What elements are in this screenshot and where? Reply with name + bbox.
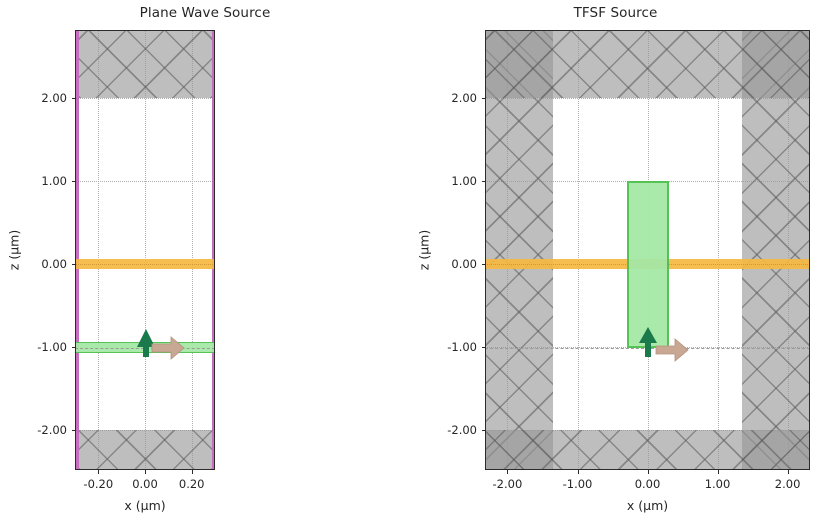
panel-title-plane-wave: Plane Wave Source [0, 5, 410, 21]
ytick-label-3: -1.00 [20, 340, 67, 354]
pml-region-bottom [485, 430, 810, 470]
panel-tfsf-source: TFSF Source [410, 0, 821, 520]
xtick-mark-0 [507, 470, 508, 474]
xtick-mark-0 [98, 470, 99, 474]
pml-region-top [485, 30, 810, 98]
xtick-label-0: -0.20 [83, 477, 113, 491]
ytick-label-2: 0.00 [20, 257, 67, 271]
gridline-z-1.00 [75, 181, 215, 182]
xtick-label-4: 2.00 [775, 477, 801, 491]
ytick-label-2: 0.00 [430, 257, 477, 271]
ytick-label-4: -2.00 [20, 423, 67, 437]
ytick-mark-4 [482, 430, 486, 431]
propagation-arrow [151, 336, 185, 360]
xtick-label-2: 0.00 [635, 477, 661, 491]
ytick-mark-2 [72, 264, 76, 265]
pml-region-top [79, 30, 212, 98]
tfsf-source-box [627, 181, 669, 348]
panel-title-tfsf: TFSF Source [410, 5, 821, 21]
xtick-mark-3 [718, 470, 719, 474]
periodic-boundary-left [75, 30, 79, 470]
xtick-mark-4 [788, 470, 789, 474]
xtick-label-2: 0.20 [179, 477, 205, 491]
axes-plane-wave [75, 30, 215, 470]
figure-canvas: Plane Wave Source [0, 0, 821, 520]
periodic-boundary-right [212, 30, 216, 470]
ytick-label-1: 1.00 [20, 174, 67, 188]
xtick-mark-2 [192, 470, 193, 474]
xaxis-label: x (µm) [627, 498, 668, 513]
structure-slab-centerline [75, 264, 215, 265]
ytick-mark-0 [72, 98, 76, 99]
axes-tfsf [485, 30, 810, 470]
ytick-mark-3 [72, 347, 76, 348]
propagation-arrow [655, 338, 689, 362]
ytick-mark-4 [72, 430, 76, 431]
yaxis-label: z (µm) [7, 230, 22, 270]
xtick-label-3: 1.00 [705, 477, 731, 491]
panel-plane-wave-source: Plane Wave Source [0, 0, 410, 520]
ytick-label-4: -2.00 [430, 423, 477, 437]
xtick-label-1: -1.00 [563, 477, 593, 491]
ytick-mark-0 [482, 98, 486, 99]
ytick-mark-1 [72, 181, 76, 182]
ytick-mark-1 [482, 181, 486, 182]
ytick-mark-3 [482, 347, 486, 348]
yaxis-label: z (µm) [417, 230, 432, 270]
xtick-label-1: 0.00 [132, 477, 158, 491]
ytick-mark-2 [482, 264, 486, 265]
xtick-label-0: -2.00 [493, 477, 523, 491]
xtick-mark-1 [578, 470, 579, 474]
ytick-label-0: 2.00 [430, 91, 477, 105]
xaxis-label: x (µm) [124, 498, 165, 513]
ytick-label-1: 1.00 [430, 174, 477, 188]
ytick-label-0: 2.00 [20, 91, 67, 105]
gridline-z-2.00 [75, 98, 215, 99]
xtick-mark-1 [145, 470, 146, 474]
pml-region-bottom [79, 430, 212, 470]
xtick-mark-2 [648, 470, 649, 474]
ytick-label-3: -1.00 [430, 340, 477, 354]
